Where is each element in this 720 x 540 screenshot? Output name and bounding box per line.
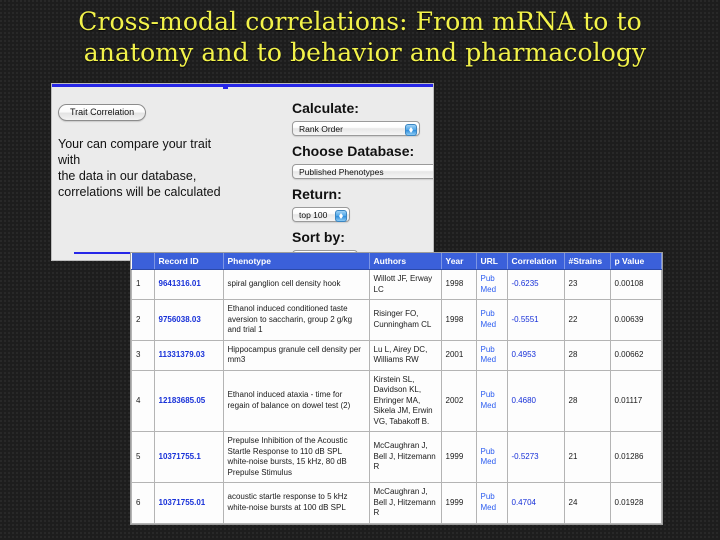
- column-header-index[interactable]: [132, 253, 155, 270]
- cell-authors: Willott JF, Erway LC: [369, 270, 441, 300]
- cell-p-value: 0.00639: [610, 300, 661, 341]
- column-header-phenotype[interactable]: Phenotype: [223, 253, 369, 270]
- form-right-column: Calculate: Rank Order Choose Database: P…: [292, 100, 433, 260]
- cell-phenotype: Hippocampus granule cell density per mm3: [223, 340, 369, 370]
- cell-strains: 23: [564, 270, 610, 300]
- select-calculate[interactable]: Rank Order: [292, 121, 420, 136]
- cell-p-value: 0.01928: [610, 483, 661, 524]
- form-description-line-1: Your can compare your trait: [58, 136, 254, 152]
- select-return[interactable]: top 100: [292, 207, 350, 222]
- pubmed-link[interactable]: PubMed: [476, 370, 507, 432]
- table-row: 610371755.01acoustic startle response to…: [132, 483, 662, 524]
- cell-phenotype: spiral ganglion cell density hook: [223, 270, 369, 300]
- label-sort-by: Sort by:: [292, 229, 433, 246]
- label-calculate: Calculate:: [292, 100, 433, 117]
- cell-strains: 24: [564, 483, 610, 524]
- cell-authors: McCaughran J, Bell J, Hitzemann R: [369, 432, 441, 483]
- cell-correlation: -0.5551: [507, 300, 564, 341]
- cell-correlation: 0.4953: [507, 340, 564, 370]
- form-description-line-2: with: [58, 152, 254, 168]
- cell-correlation: 0.4680: [507, 370, 564, 432]
- cell-p-value: 0.00108: [610, 270, 661, 300]
- column-header-record-id[interactable]: Record ID: [154, 253, 223, 270]
- panel-top-rule: [52, 84, 433, 87]
- table-row: 412183685.05Ethanol induced ataxia - tim…: [132, 370, 662, 432]
- table-row: 510371755.1Prepulse Inhibition of the Ac…: [132, 432, 662, 483]
- trait-correlation-button[interactable]: Trait Correlation: [58, 104, 146, 121]
- cell-p-value: 0.01117: [610, 370, 661, 432]
- cell-authors: Risinger FO, Cunningham CL: [369, 300, 441, 341]
- column-header-correlation[interactable]: Correlation: [507, 253, 564, 270]
- cell-strains: 21: [564, 432, 610, 483]
- cell-authors: McCaughran J, Bell J, Hitzemann R: [369, 483, 441, 524]
- form-description: Your can compare your trait with the dat…: [58, 136, 254, 200]
- cell-phenotype: acoustic startle response to 5 kHz white…: [223, 483, 369, 524]
- cell-index: 4: [132, 370, 155, 432]
- table-row: 19641316.01spiral ganglion cell density …: [132, 270, 662, 300]
- correlation-results-table: Record ID Phenotype Authors Year URL Cor…: [131, 253, 662, 524]
- updown-arrows-icon: [335, 210, 347, 222]
- page-title-line-2: anatomy and to behavior and pharmacology: [0, 37, 720, 68]
- cell-correlation: -0.6235: [507, 270, 564, 300]
- record-id-link[interactable]: 10371755.01: [154, 483, 223, 524]
- cell-strains: 22: [564, 300, 610, 341]
- column-header-p-value[interactable]: p Value: [610, 253, 661, 270]
- pubmed-link[interactable]: PubMed: [476, 340, 507, 370]
- cell-p-value: 0.00662: [610, 340, 661, 370]
- pubmed-link[interactable]: PubMed: [476, 483, 507, 524]
- cell-authors: Kirstein SL, Davidson KL, Ehringer MA, S…: [369, 370, 441, 432]
- cell-strains: 28: [564, 340, 610, 370]
- cell-year: 1999: [441, 483, 476, 524]
- updown-arrows-icon: [405, 124, 417, 136]
- record-id-link[interactable]: 9756038.03: [154, 300, 223, 341]
- table-row: 29756038.03Ethanol induced conditioned t…: [132, 300, 662, 341]
- trait-correlation-form-panel: Trait Correlation Your can compare your …: [52, 84, 433, 260]
- record-id-link[interactable]: 12183685.05: [154, 370, 223, 432]
- panel-top-rule-notch: [223, 84, 228, 89]
- select-return-value: top 100: [299, 210, 327, 220]
- cell-year: 1998: [441, 300, 476, 341]
- pubmed-link[interactable]: PubMed: [476, 432, 507, 483]
- page-title: Cross-modal correlations: From mRNA to t…: [0, 6, 720, 68]
- cell-strains: 28: [564, 370, 610, 432]
- table-row: 311331379.03Hippocampus granule cell den…: [132, 340, 662, 370]
- record-id-link[interactable]: 10371755.1: [154, 432, 223, 483]
- form-left-column: Trait Correlation Your can compare your …: [58, 102, 254, 200]
- cell-year: 1998: [441, 270, 476, 300]
- cell-authors: Lu L, Airey DC, Williams RW: [369, 340, 441, 370]
- cell-correlation: -0.5273: [507, 432, 564, 483]
- cell-phenotype: Prepulse Inhibition of the Acoustic Star…: [223, 432, 369, 483]
- cell-index: 2: [132, 300, 155, 341]
- column-header-authors[interactable]: Authors: [369, 253, 441, 270]
- cell-year: 2001: [441, 340, 476, 370]
- column-header-strains[interactable]: #Strains: [564, 253, 610, 270]
- cell-correlation: 0.4704: [507, 483, 564, 524]
- cell-p-value: 0.01286: [610, 432, 661, 483]
- cell-year: 1999: [441, 432, 476, 483]
- cell-phenotype: Ethanol induced conditioned taste aversi…: [223, 300, 369, 341]
- cell-index: 6: [132, 483, 155, 524]
- cell-index: 3: [132, 340, 155, 370]
- label-choose-database: Choose Database:: [292, 143, 433, 160]
- column-header-url[interactable]: URL: [476, 253, 507, 270]
- column-header-year[interactable]: Year: [441, 253, 476, 270]
- cell-phenotype: Ethanol induced ataxia - time for regain…: [223, 370, 369, 432]
- form-description-line-4: correlations will be calculated: [58, 184, 254, 200]
- select-database[interactable]: Published Phenotypes: [292, 164, 433, 179]
- table-header-row: Record ID Phenotype Authors Year URL Cor…: [132, 253, 662, 270]
- pubmed-link[interactable]: PubMed: [476, 300, 507, 341]
- form-description-line-3: the data in our database,: [58, 168, 254, 184]
- page-title-line-1: Cross-modal correlations: From mRNA to t…: [0, 6, 720, 37]
- cell-index: 5: [132, 432, 155, 483]
- cell-year: 2002: [441, 370, 476, 432]
- select-database-value: Published Phenotypes: [299, 167, 384, 177]
- select-calculate-value: Rank Order: [299, 124, 343, 134]
- record-id-link[interactable]: 11331379.03: [154, 340, 223, 370]
- cell-index: 1: [132, 270, 155, 300]
- label-return: Return:: [292, 186, 433, 203]
- record-id-link[interactable]: 9641316.01: [154, 270, 223, 300]
- pubmed-link[interactable]: PubMed: [476, 270, 507, 300]
